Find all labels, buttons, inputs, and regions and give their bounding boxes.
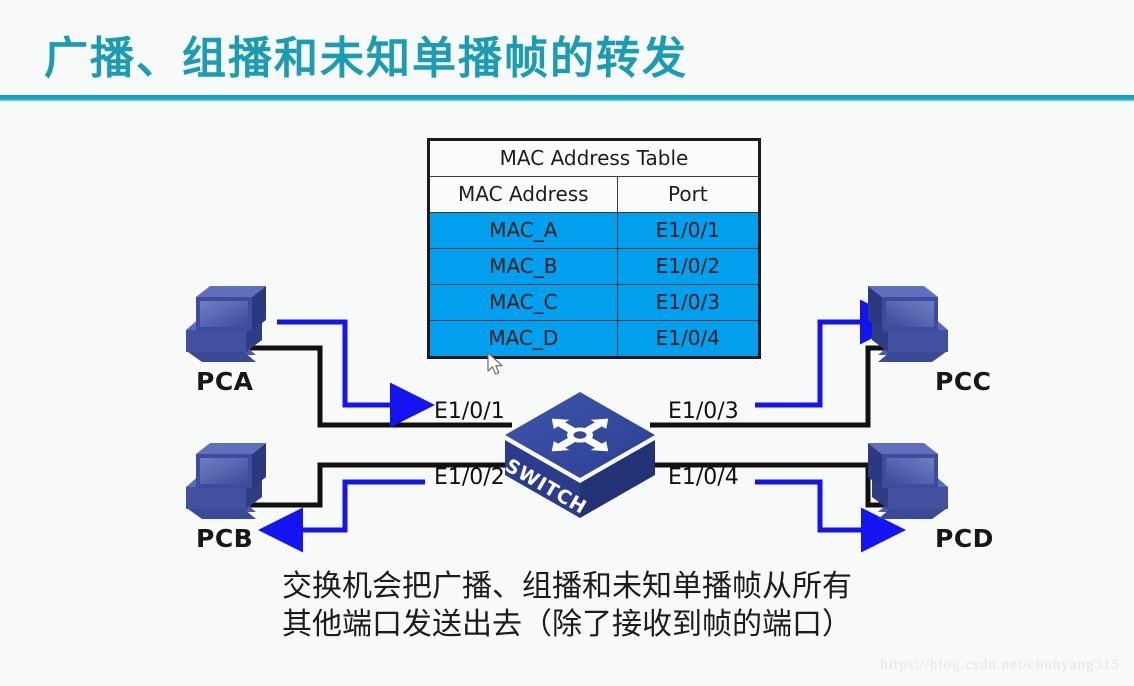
- flow-arrow-pcb-out: [268, 482, 425, 530]
- node-label-pcc: PCC: [935, 367, 992, 396]
- table-row-title: MAC Address Table: [429, 140, 760, 177]
- node-label-pca: PCA: [196, 367, 254, 396]
- column-header-port: Port: [617, 177, 759, 213]
- node-label-pcb: PCB: [196, 524, 253, 553]
- cell-port: E1/0/1: [617, 213, 759, 249]
- port-label-e1-0-1: E1/0/1: [434, 399, 505, 424]
- page-title: 广播、组播和未知单播帧的转发: [44, 22, 688, 86]
- switch-icon[interactable]: SWITCH: [501, 392, 655, 519]
- cell-mac: MAC_C: [429, 285, 618, 321]
- pc-icon-pca[interactable]: [186, 286, 266, 362]
- table-row[interactable]: MAC_B E1/0/2: [429, 249, 760, 285]
- pc-icon-pcd[interactable]: [868, 443, 948, 519]
- cell-mac: MAC_D: [429, 321, 618, 358]
- table-row[interactable]: MAC_C E1/0/3: [429, 285, 760, 321]
- table-row-header: MAC Address Port: [429, 177, 760, 213]
- port-label-e1-0-3: E1/0/3: [668, 399, 739, 424]
- mac-address-table: MAC Address Table MAC Address Port MAC_A…: [427, 138, 761, 359]
- four-way-arrow-icon: [523, 402, 636, 468]
- cell-port: E1/0/2: [617, 249, 759, 285]
- node-label-pcd: PCD: [935, 524, 994, 553]
- caption-line-2: 其他端口发送出去（除了接收到帧的端口）: [0, 606, 1134, 644]
- flow-arrow-pcc-out: [755, 322, 895, 405]
- flow-arrow-pcd-out: [755, 482, 896, 530]
- title-divider: [0, 95, 1134, 101]
- table-row[interactable]: MAC_D E1/0/4: [429, 321, 760, 358]
- physical-links: [250, 348, 938, 505]
- pc-icon-pcb[interactable]: [186, 443, 266, 519]
- column-header-mac-address: MAC Address: [429, 177, 618, 213]
- watermark: https://blog.csdn.net/chunyang315: [880, 657, 1120, 674]
- cell-port: E1/0/4: [617, 321, 759, 358]
- port-label-e1-0-2: E1/0/2: [434, 465, 505, 490]
- switch-label: SWITCH: [501, 455, 590, 519]
- flow-arrow-pca-in: [277, 322, 425, 405]
- table-row[interactable]: MAC_A E1/0/1: [429, 213, 760, 249]
- cell-mac: MAC_B: [429, 249, 618, 285]
- slide-canvas: 广播、组播和未知单播帧的转发 MAC Address Table MAC Add…: [0, 0, 1134, 686]
- pc-icon-pcc[interactable]: [868, 286, 948, 362]
- mac-table-title: MAC Address Table: [429, 140, 760, 177]
- caption-line-1: 交换机会把广播、组播和未知单播帧从所有: [0, 568, 1134, 606]
- cell-mac: MAC_A: [429, 213, 618, 249]
- cell-port: E1/0/3: [617, 285, 759, 321]
- caption-block: 交换机会把广播、组播和未知单播帧从所有 其他端口发送出去（除了接收到帧的端口）: [0, 568, 1134, 644]
- port-label-e1-0-4: E1/0/4: [668, 465, 739, 490]
- mouse-cursor: [486, 352, 506, 378]
